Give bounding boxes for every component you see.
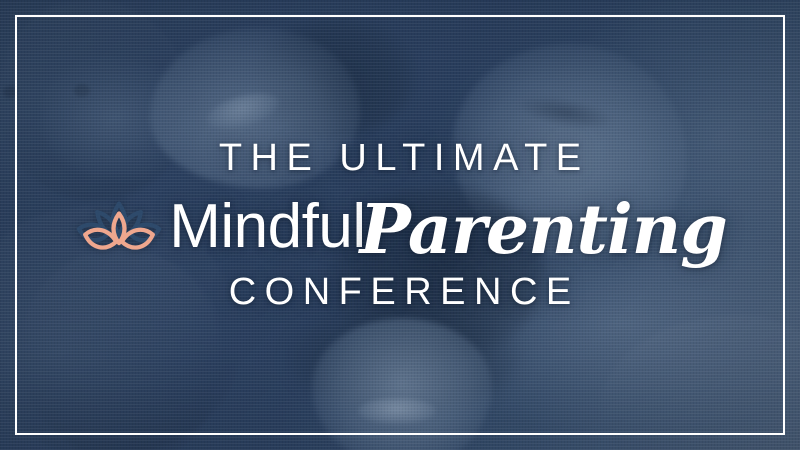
conference-poster: THE ULTIMATE Mindful Pa xyxy=(0,0,800,450)
brand-wordmark-row: Mindful Parenting xyxy=(73,193,727,261)
eyebrow-text: THE ULTIMATE xyxy=(210,139,589,177)
lotus-flower-icon xyxy=(73,198,165,260)
subhead-text: CONFERENCE xyxy=(220,273,580,311)
title-lockup: THE ULTIMATE Mindful Pa xyxy=(0,0,800,450)
brand-word-parenting: Parenting xyxy=(360,196,727,264)
brand-word-mindful: Mindful xyxy=(169,196,365,258)
